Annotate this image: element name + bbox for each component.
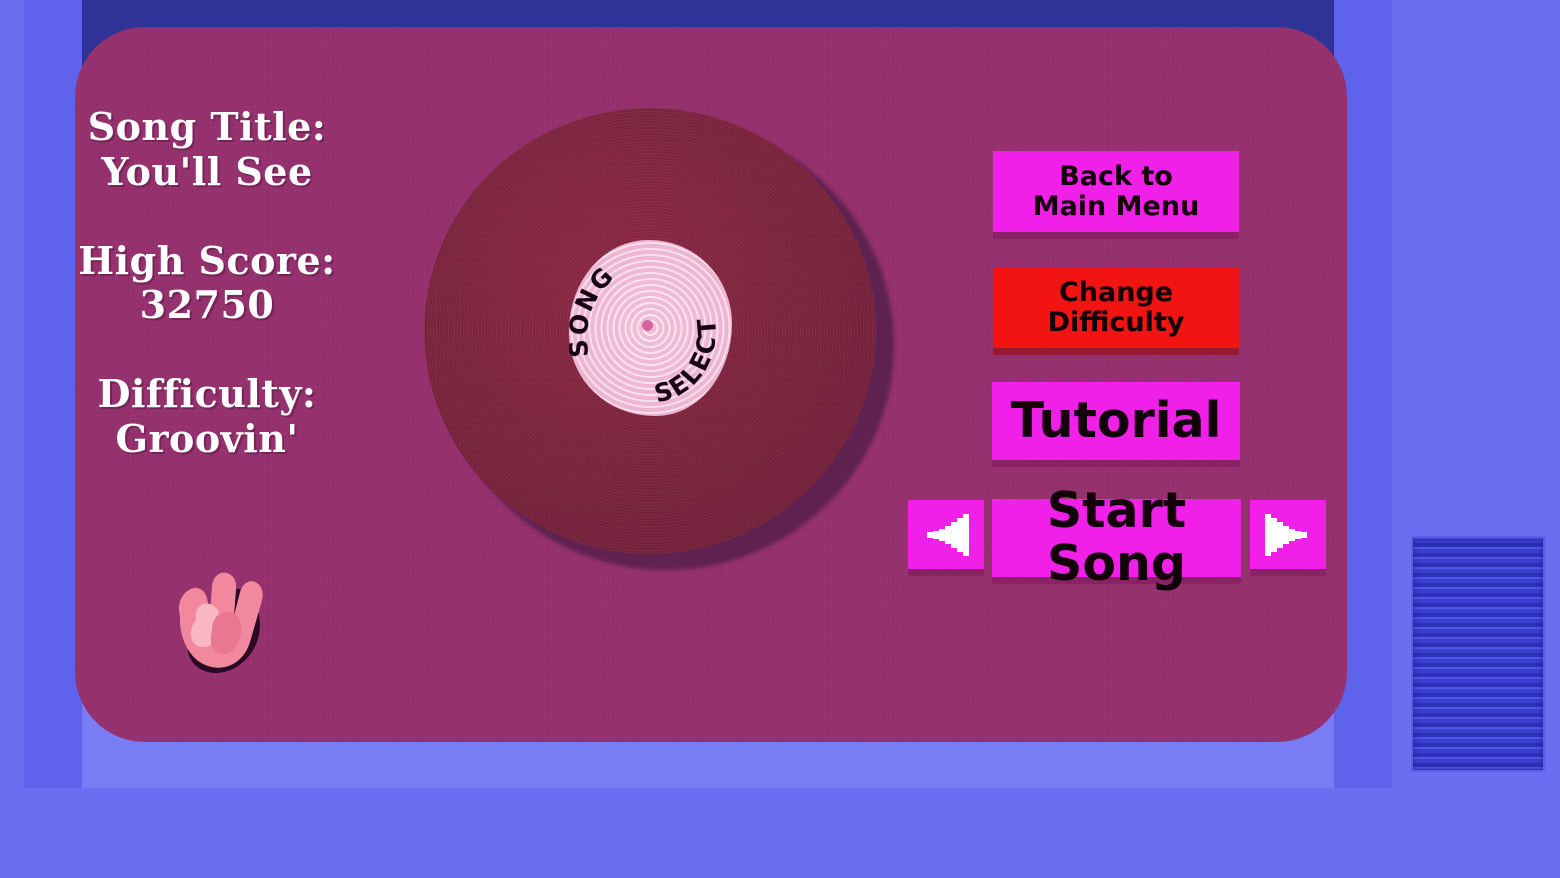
record-spindle-hole <box>642 320 653 331</box>
difficulty-value: Groovin' <box>42 417 372 462</box>
left-arrow-icon <box>919 510 973 560</box>
vinyl-record[interactable]: SONG SELECT <box>424 108 894 570</box>
pink-hand-cursor-icon <box>150 558 300 678</box>
tutorial-button[interactable]: Tutorial <box>992 382 1240 460</box>
song-title-value: You'll See <box>42 150 372 195</box>
high-score-label: High Score: <box>42 239 372 284</box>
previous-song-button[interactable] <box>908 500 984 569</box>
song-info-column: Song Title: You'll See High Score: 32750… <box>42 105 372 506</box>
difficulty-label: Difficulty: <box>42 372 372 417</box>
game-screen: Song Title: You'll See High Score: 32750… <box>0 0 1560 878</box>
right-arrow-icon <box>1261 510 1315 560</box>
high-score-value: 32750 <box>42 283 372 328</box>
next-song-button[interactable] <box>1250 500 1326 569</box>
change-difficulty-button[interactable]: Change Difficulty <box>993 267 1239 348</box>
difficulty-group: Difficulty: Groovin' <box>42 372 372 462</box>
window-blinds-panel <box>1411 536 1545 772</box>
start-song-button[interactable]: Start Song <box>992 499 1241 577</box>
song-title-label: Song Title: <box>42 105 372 150</box>
song-title-group: Song Title: You'll See <box>42 105 372 195</box>
high-score-group: High Score: 32750 <box>42 239 372 329</box>
back-to-main-menu-button[interactable]: Back to Main Menu <box>993 151 1239 232</box>
